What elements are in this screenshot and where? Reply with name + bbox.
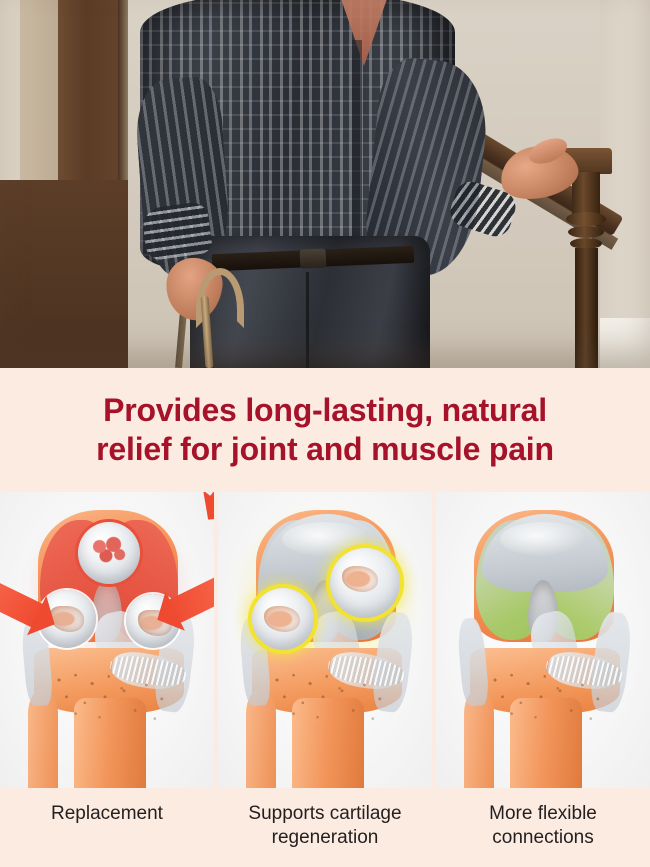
caption-replacement: Replacement — [0, 788, 214, 826]
caption-flexible-connections: More flexible connections — [436, 788, 650, 851]
cartilage-highlight — [500, 522, 586, 556]
magnifier-callout-right — [330, 548, 400, 618]
headline-line-2: relief for joint and muscle pain — [96, 431, 554, 467]
headline-line-1: Provides long-lasting, natural — [103, 392, 547, 428]
caption-row: Replacement Supports cartilage regenerat… — [0, 788, 650, 867]
knee-illustration-row — [0, 492, 650, 788]
floor-shadow — [0, 180, 128, 368]
panel-flexible-connections[interactable] — [436, 492, 650, 788]
panel-cartilage-regeneration[interactable] — [218, 492, 432, 788]
caption-text-line-2: connections — [492, 827, 593, 848]
caption-cartilage-regeneration: Supports cartilage regeneration — [218, 788, 432, 851]
bone-texture-spots — [110, 678, 180, 736]
caption-text: Replacement — [51, 803, 163, 824]
jeans-seam — [306, 272, 309, 368]
knee-joint-healthy-icon — [436, 492, 650, 788]
belt-buckle — [300, 248, 327, 268]
promo-page: Provides long-lasting, natural relief fo… — [0, 0, 650, 867]
panel-replacement[interactable] — [0, 492, 214, 788]
knee-joint-inflamed-icon — [0, 492, 214, 788]
baseboard — [600, 318, 650, 368]
cartilage-regrowth-icon — [342, 566, 378, 592]
caption-text-line-2: regeneration — [272, 827, 379, 848]
left-cuff — [141, 201, 214, 262]
newel-post-shaft — [575, 248, 598, 368]
magnifier-callout-left — [252, 588, 314, 650]
caption-text-line-1: Supports cartilage — [248, 803, 401, 824]
bone-texture-spots — [328, 678, 398, 736]
bone-texture-spots — [546, 678, 616, 736]
headline-banner: Provides long-lasting, natural relief fo… — [0, 368, 650, 492]
cartilage-regrowth-icon — [264, 606, 300, 632]
knee-joint-healing-icon — [218, 492, 432, 788]
pointer-arrow-icon — [208, 492, 214, 515]
wall-band-right — [600, 0, 650, 368]
magnifier-callout-top — [78, 522, 140, 584]
newel-post-bead — [568, 226, 604, 238]
shirt-placket — [352, 40, 362, 266]
caption-text-line-1: More flexible — [489, 803, 597, 824]
cartilage-damage-icon — [90, 536, 128, 566]
newel-post-bead — [566, 212, 606, 226]
hero-photo — [0, 0, 650, 368]
page-title: Provides long-lasting, natural relief fo… — [86, 391, 564, 469]
